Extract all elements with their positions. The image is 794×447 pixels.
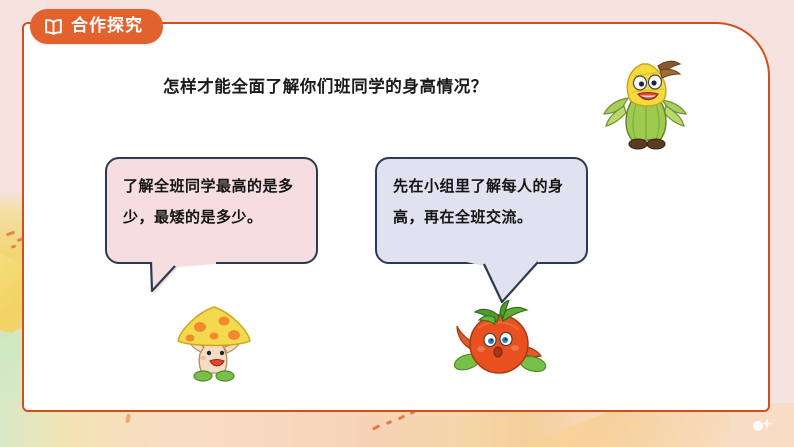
speech-bubble-right: 先在小组里了解每人的身高，再在全班交流。 [375, 157, 588, 264]
speech-bubble-left: 了解全班同学最高的是多少，最矮的是多少。 [105, 157, 318, 264]
mushroom-character [168, 303, 260, 385]
tomato-character [443, 300, 553, 386]
speech-bubble-left-text: 了解全班同学最高的是多少，最矮的是多少。 [107, 159, 316, 243]
section-badge-label: 合作探究 [71, 18, 143, 35]
speech-bubble-left-tail [148, 261, 218, 301]
slide-root: 合作探究 怎样才能全面了解你们班同学的身高情况？ 了解全班同学最高的是多少，最矮… [0, 0, 794, 447]
section-badge[interactable]: 合作探究 [30, 9, 163, 44]
corn-character [598, 56, 694, 152]
speech-bubble-right-text: 先在小组里了解每人的身高，再在全班交流。 [377, 159, 586, 243]
sparkle-icon [748, 413, 776, 441]
page-title: 怎样才能全面了解你们班同学的身高情况？ [163, 73, 488, 97]
open-book-icon [44, 19, 63, 35]
